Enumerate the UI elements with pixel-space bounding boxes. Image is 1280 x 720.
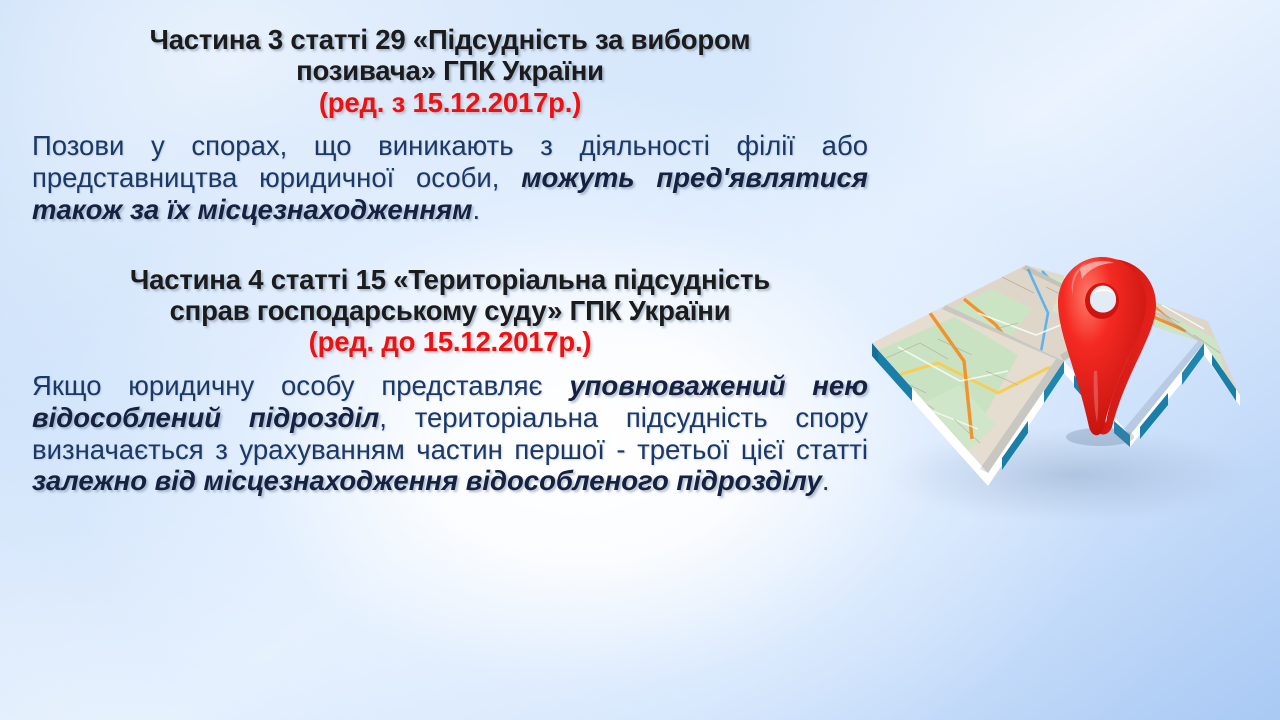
heading-article-15-date: (ред. до 15.12.2017р.) [32, 326, 868, 357]
paragraph-article-29-text-2: . [472, 194, 480, 225]
paragraph-article-15-text-3: . [822, 465, 830, 496]
slide-text-column: Частина 3 статті 29 «Підсудність за вибо… [32, 24, 868, 497]
paragraph-article-15: Якщо юридичну особу представляє уповнова… [32, 370, 868, 498]
heading-article-15-line1: Частина 4 статті 15 «Територіальна підсу… [32, 264, 868, 295]
paragraph-article-29: Позови у спорах, що виникають з діяльнос… [32, 130, 868, 226]
heading-article-15-line2: справ господарському суду» ГПК України [32, 295, 868, 326]
heading-article-29-line2: позивача» ГПК України [32, 55, 868, 86]
paragraph-article-15-emphasis-2: залежно від місцезнаходження відособлено… [32, 465, 822, 496]
heading-article-29-line1: Частина 3 статті 29 «Підсудність за вибо… [32, 24, 868, 55]
heading-article-29-date: (ред. з 15.12.2017р.) [32, 87, 868, 118]
paragraph-article-15-text-1: Якщо юридичну особу представляє [32, 370, 569, 401]
heading-article-29: Частина 3 статті 29 «Підсудність за вибо… [32, 24, 868, 118]
heading-article-15: Частина 4 статті 15 «Територіальна підсу… [32, 264, 868, 358]
slide-canvas: Частина 3 статті 29 «Підсудність за вибо… [0, 0, 1280, 720]
map-illustration: ●●●●● [868, 243, 1280, 563]
block-spacer [32, 226, 868, 264]
